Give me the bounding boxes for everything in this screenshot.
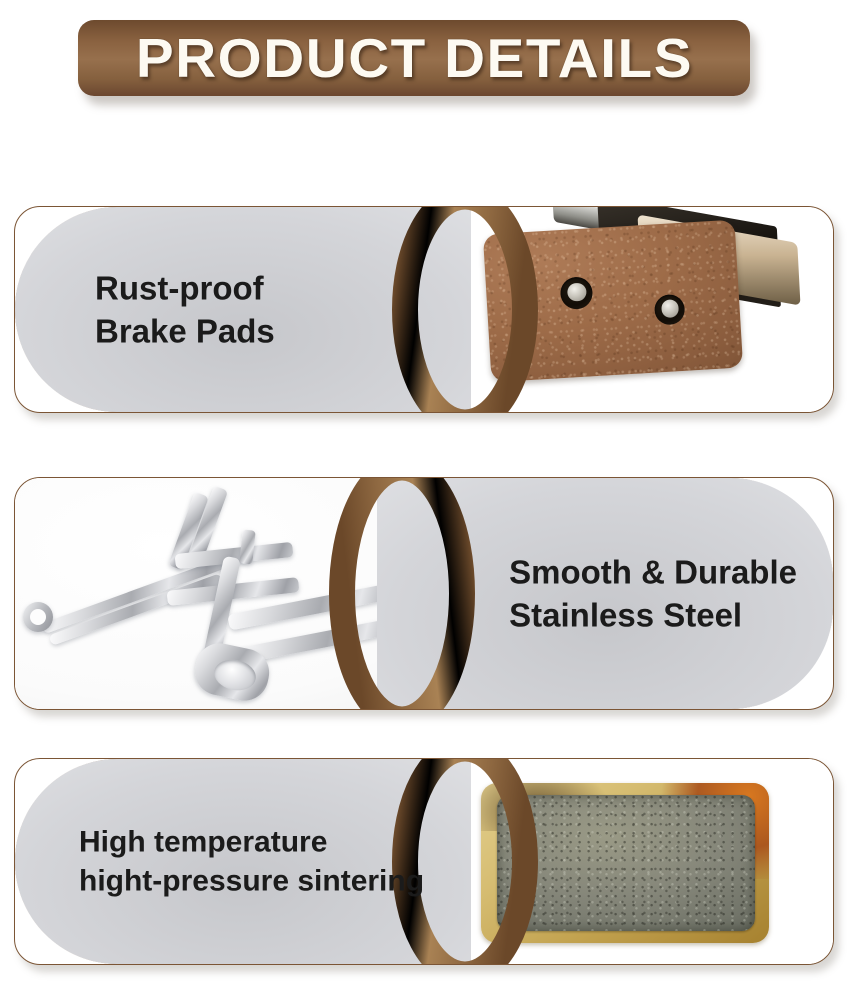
friction-material-surface bbox=[497, 795, 755, 931]
page-header-banner: PRODUCT DETAILS bbox=[78, 20, 750, 96]
feature-label: Smooth & Durable Stainless Steel bbox=[509, 550, 797, 637]
friction-grain-texture bbox=[497, 795, 755, 931]
brass-rim bbox=[481, 783, 769, 943]
cotter-pin-eye bbox=[23, 602, 53, 632]
feature-card-rust-proof-brake-pads: Rust-proof Brake Pads bbox=[14, 206, 834, 413]
product-details-infographic: PRODUCT DETAILS bbox=[0, 0, 847, 1000]
pad-grain-texture bbox=[483, 220, 743, 383]
feature-card-high-temperature-sintering: High temperature hight-pressure sinterin… bbox=[14, 758, 834, 965]
sintered-pad-body bbox=[483, 220, 743, 383]
page-title: PRODUCT DETAILS bbox=[135, 31, 692, 86]
feature-label: High temperature hight-pressure sinterin… bbox=[79, 822, 424, 901]
cotter-pin-leg-lower bbox=[49, 573, 224, 646]
feature-card-smooth-durable-stainless-steel: Smooth & Durable Stainless Steel bbox=[14, 477, 834, 710]
feature-label: Rust-proof Brake Pads bbox=[95, 266, 275, 353]
